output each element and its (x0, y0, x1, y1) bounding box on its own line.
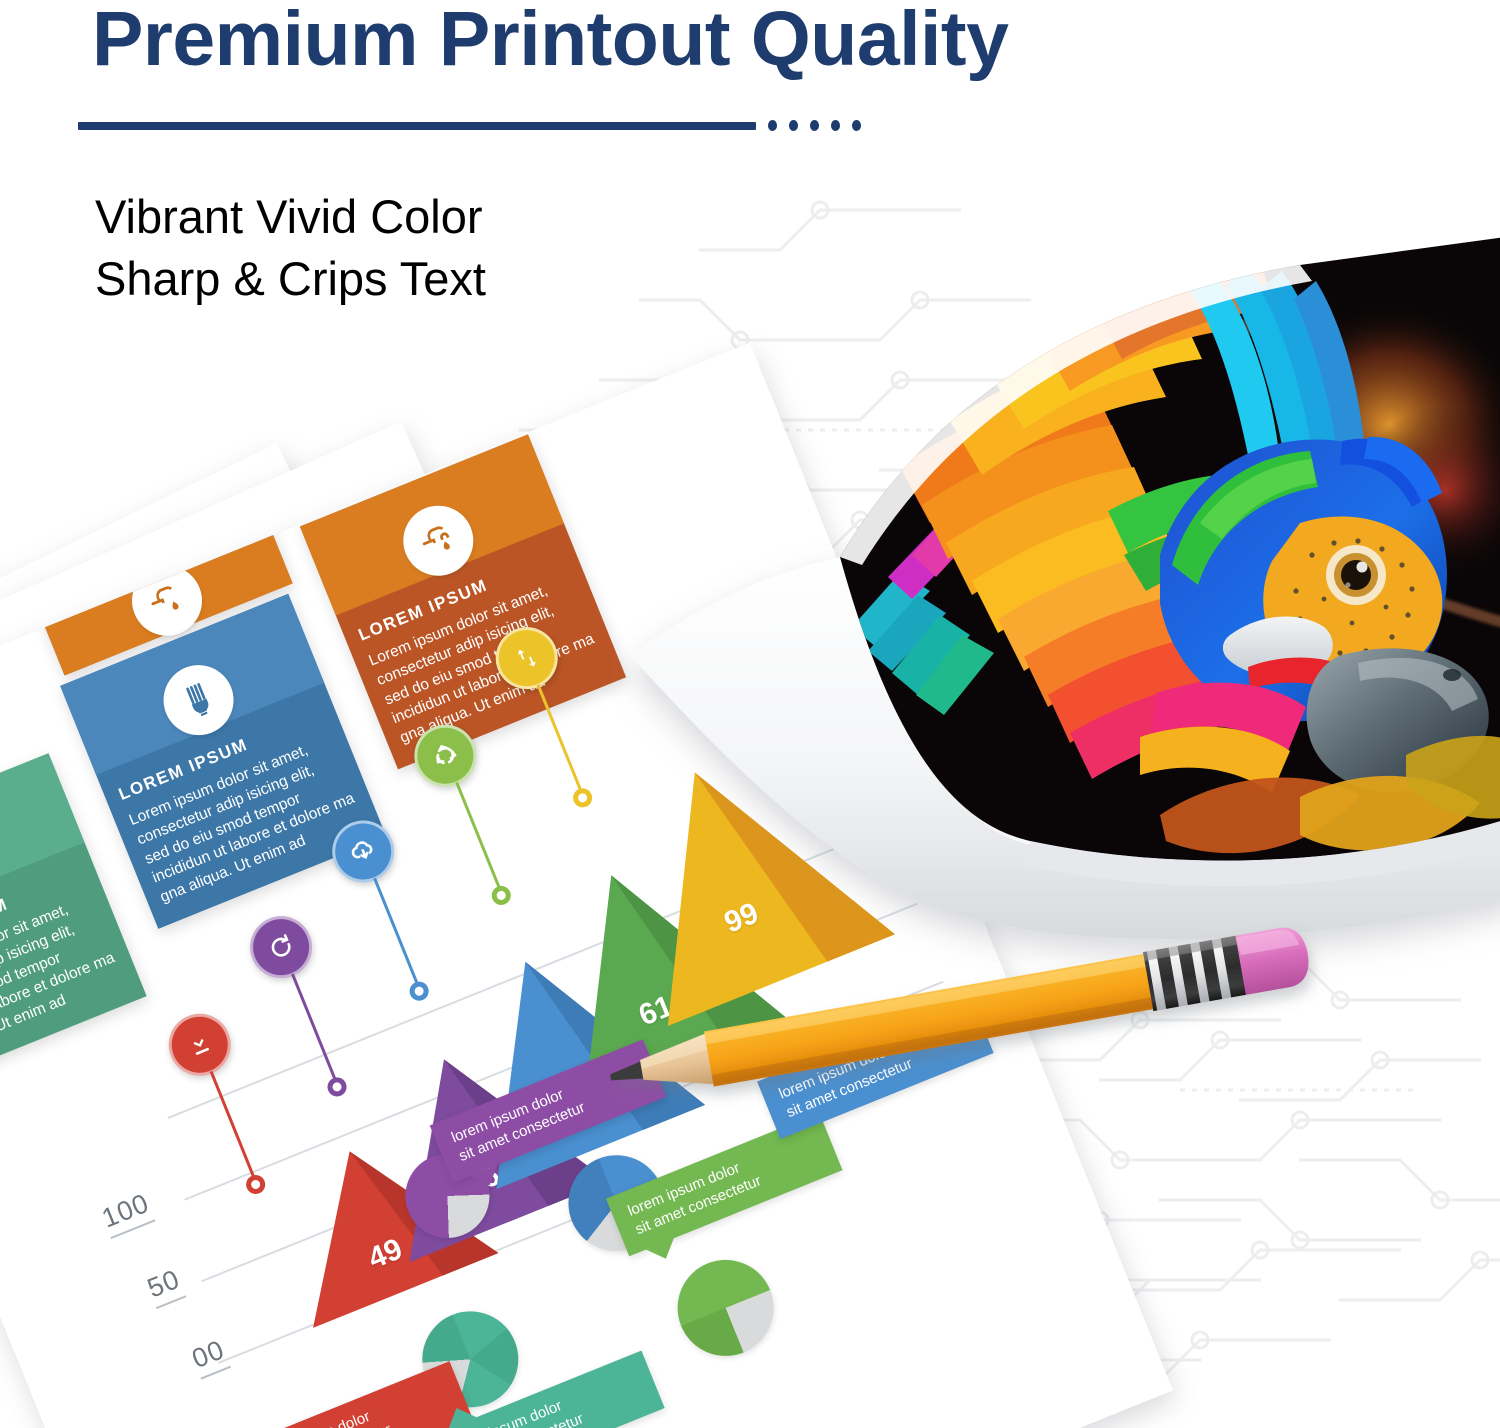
divider-dot (831, 120, 840, 131)
divider-dot (810, 120, 819, 131)
headline-block: Premium Printout Quality Vibrant Vivid C… (0, 0, 1260, 79)
axis-tick-50: 50 (143, 1264, 186, 1309)
divider-dot (789, 120, 798, 131)
divider-bar (78, 122, 756, 130)
refresh-icon (241, 907, 322, 988)
parrot-eye (1326, 545, 1386, 605)
infographic-card-blue: LOREM IPSUM Lorem ipsum dolor sit amet, … (60, 594, 386, 929)
divider-dot (768, 120, 777, 131)
axis-node-yellow (570, 785, 595, 810)
page-title: Premium Printout Quality (0, 0, 1260, 79)
divider (78, 120, 861, 131)
divider-dot (852, 120, 861, 131)
chart-marker-refresh[interactable] (241, 907, 322, 988)
card-text-blue: Lorem ipsum dolor sit amet, consectetur … (126, 731, 367, 909)
axis-tick-100: 100 (98, 1188, 156, 1239)
page-subtitle: Vibrant Vivid Color Sharp & Crips Text (95, 186, 486, 310)
pencil (600, 960, 1330, 1080)
chart-marker-download[interactable] (159, 1004, 240, 1085)
divider-dots (768, 120, 861, 131)
curled-photo-print (600, 255, 1500, 955)
axis-node-purple (325, 1075, 350, 1100)
card-text-orange: Lorem ipsum dolor sit amet, consectetur … (366, 571, 607, 749)
product-marketing-image: 100 50 LOREM IPSUM Lorem ipsum dolor sit… (0, 0, 1500, 1428)
download-icon (159, 1004, 240, 1085)
axis-node-green (489, 883, 514, 908)
axis-tick-00: 00 (188, 1334, 231, 1379)
